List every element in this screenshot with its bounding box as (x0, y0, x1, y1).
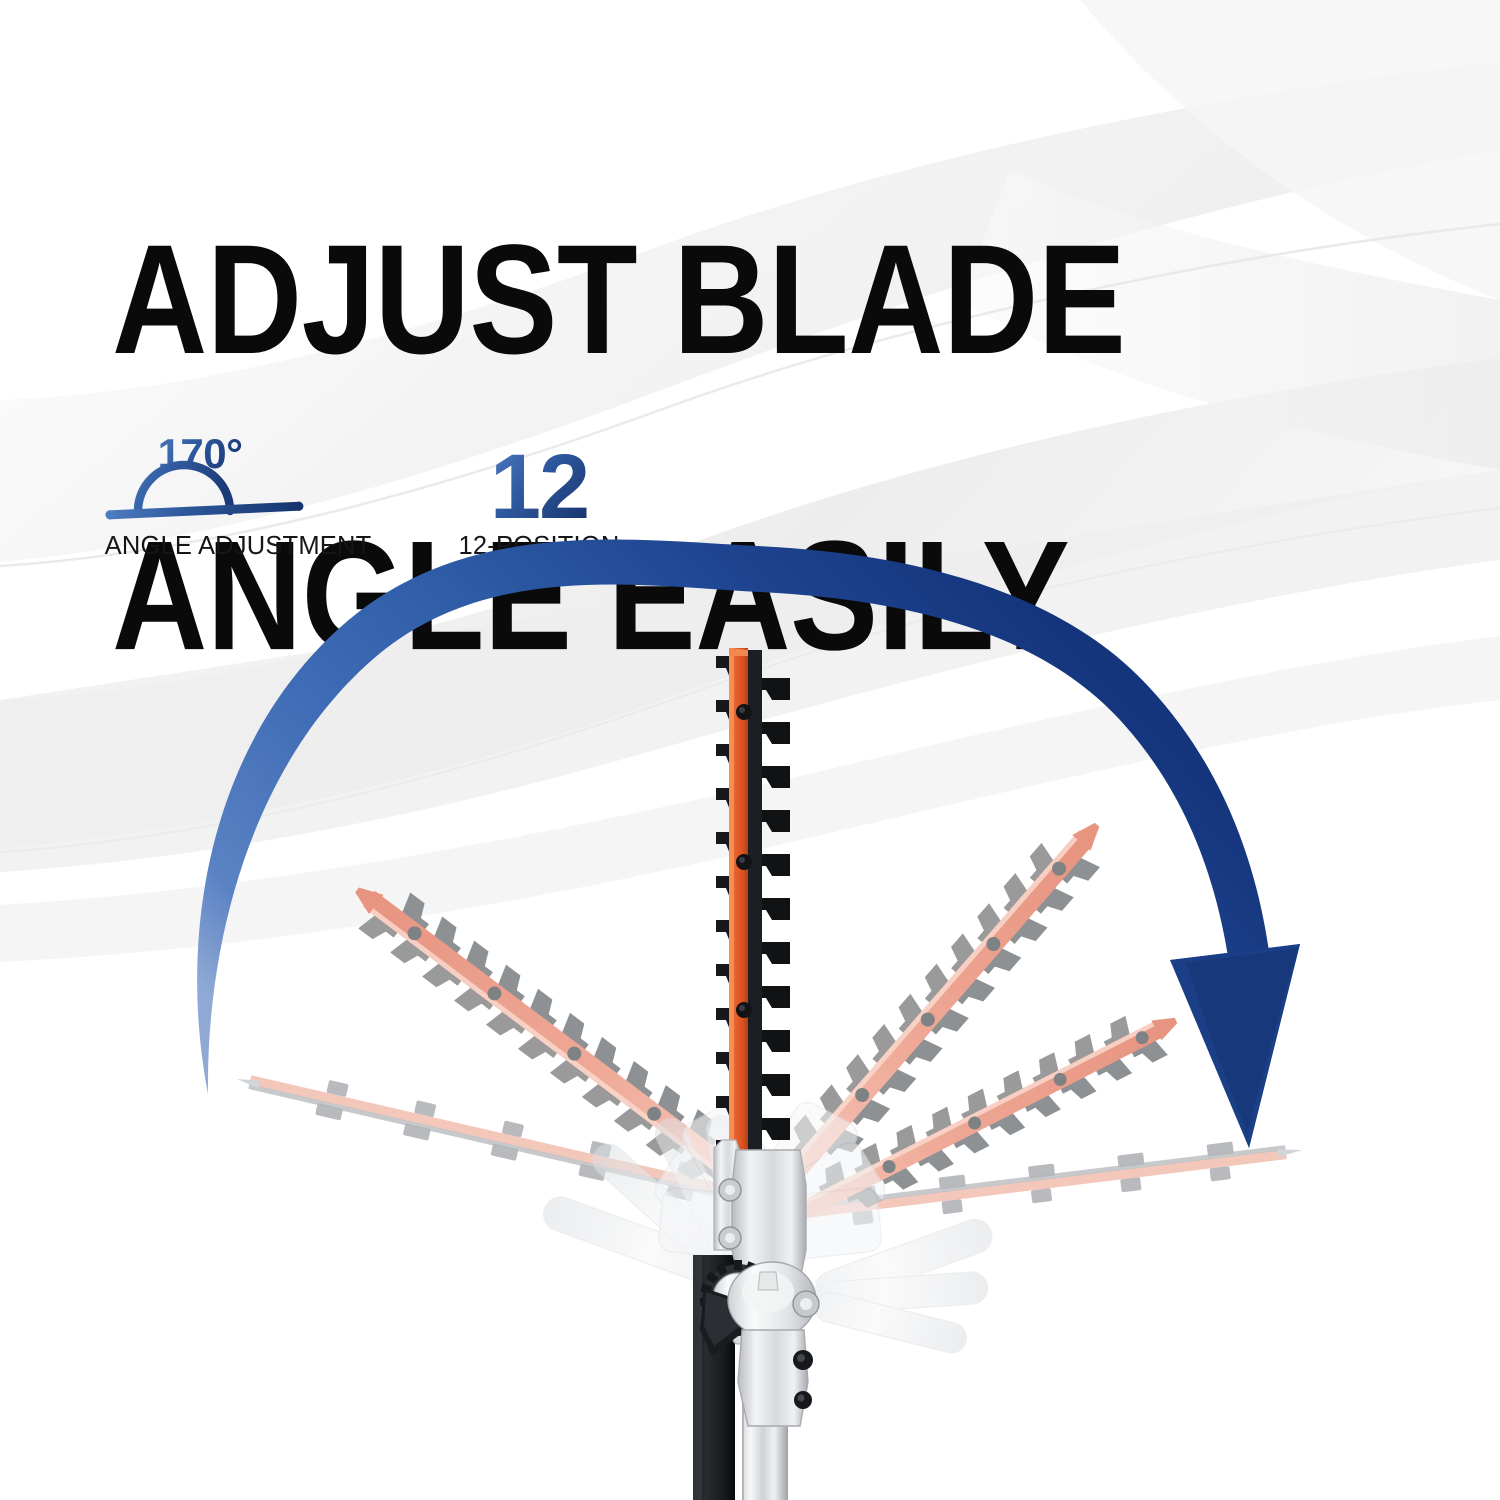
badge-angle-caption: ANGLE ADJUSTMENT (105, 532, 372, 561)
protractor-angle-icon: 170° (100, 432, 376, 528)
badge-position-caption: 12-POSITION (459, 532, 620, 561)
page-title-line-1: ADJUST BLADE (112, 226, 1112, 374)
feature-badge-row: 170° ANGLE ADJUSTMENT (100, 432, 624, 561)
position-count-value: 12 (490, 436, 588, 528)
badge-angle-adjustment: 170° ANGLE ADJUSTMENT (100, 432, 376, 561)
badge-12-position: 12 12-POSITION (454, 432, 624, 561)
infographic-canvas: ADJUST BLADE ANGLE EASILY (0, 0, 1500, 1500)
number-12-icon: 12 (454, 432, 624, 528)
